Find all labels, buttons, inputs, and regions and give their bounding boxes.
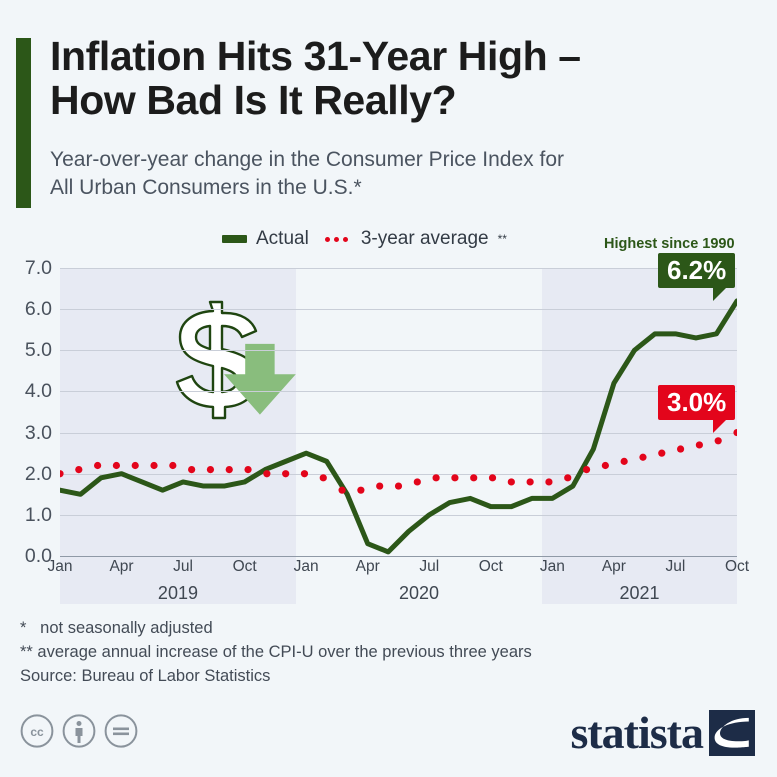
statista-logo-text: statista [570, 708, 703, 758]
y-tick-2.0: 2.0 [2, 463, 52, 486]
footnotes: * not seasonally adjusted ** average ann… [20, 616, 740, 688]
series-dot-average [244, 466, 251, 473]
footer: cc statista [0, 700, 777, 777]
series-dot-average [696, 441, 703, 448]
solid-line-swatch-icon [222, 235, 247, 243]
series-dot-average [433, 474, 440, 481]
x-tick-Oct-3: Oct [233, 558, 257, 576]
legend-label-average-suffix: ** [498, 232, 507, 246]
series-dot-average [527, 478, 534, 485]
x-tick-Jul-2: Jul [173, 558, 193, 576]
series-dot-average [545, 478, 552, 485]
title-line-1: Inflation Hits 31-Year High – [50, 34, 760, 78]
series-dot-average [677, 445, 684, 452]
series-dot-average [207, 466, 214, 473]
series-dot-average [658, 450, 665, 457]
legend-label-actual: Actual [256, 228, 309, 250]
x-tick-Apr-1: Apr [109, 558, 133, 576]
x-tick-Jan-4: Jan [294, 558, 319, 576]
series-dot-average [733, 429, 737, 436]
legend-item-actual: Actual [222, 228, 309, 250]
x-tick-Jan-0: Jan [48, 558, 73, 576]
year-label-2019: 2019 [158, 583, 198, 604]
cc-icon: cc [20, 714, 54, 748]
series-dot-average [357, 487, 364, 494]
page-title: Inflation Hits 31-Year High – How Bad Is… [50, 34, 760, 122]
infographic-canvas: Inflation Hits 31-Year High – How Bad Is… [0, 0, 777, 777]
chart-area: 0.01.02.03.04.05.06.07.0 JanAprJulOctJan… [0, 255, 777, 615]
actual-value-callout: 6.2% [658, 253, 735, 288]
series-dot-average [489, 474, 496, 481]
subtitle-line-1: Year-over-year change in the Consumer Pr… [50, 146, 750, 174]
x-tick-Oct-11: Oct [725, 558, 749, 576]
series-dot-average [414, 478, 421, 485]
series-line-actual [60, 301, 737, 552]
y-axis: 0.01.02.03.04.05.06.07.0 [0, 268, 52, 556]
y-tick-4.0: 4.0 [2, 380, 52, 403]
series-dot-average [132, 462, 139, 469]
series-dot-average [470, 474, 477, 481]
series-dot-average [602, 462, 609, 469]
y-tick-7.0: 7.0 [2, 257, 52, 280]
y-tick-0.0: 0.0 [2, 545, 52, 568]
average-value-callout-label: 3.0% [667, 387, 726, 417]
series-dot-average [301, 470, 308, 477]
year-label-2021: 2021 [620, 583, 660, 604]
x-tick-Jul-10: Jul [666, 558, 686, 576]
footnote-2: ** average annual increase of the CPI-U … [20, 640, 740, 664]
x-tick-Apr-5: Apr [356, 558, 380, 576]
source-note: Source: Bureau of Labor Statistics [20, 664, 740, 688]
series-dot-average [338, 487, 345, 494]
x-tick-Jul-6: Jul [419, 558, 439, 576]
series-dot-average [508, 478, 515, 485]
series-dot-average [60, 470, 64, 477]
series-dot-average [75, 466, 82, 473]
series-dot-average [150, 462, 157, 469]
series-dot-average [639, 454, 646, 461]
y-tick-1.0: 1.0 [2, 504, 52, 527]
year-label-2020: 2020 [399, 583, 439, 604]
creative-commons-icons: cc [20, 714, 138, 748]
series-dot-average [226, 466, 233, 473]
series-dot-average [263, 470, 270, 477]
average-value-callout: 3.0% [658, 385, 735, 420]
series-dot-average [320, 474, 327, 481]
svg-text:cc: cc [30, 725, 44, 739]
series-dot-average [395, 482, 402, 489]
series-dot-average [715, 437, 722, 444]
series-dot-average [583, 466, 590, 473]
series-dot-average [282, 470, 289, 477]
highest-since-annotation: Highest since 1990 [604, 236, 735, 252]
series-dot-average [113, 462, 120, 469]
x-tick-Oct-7: Oct [479, 558, 503, 576]
no-derivatives-icon [104, 714, 138, 748]
x-tick-Jan-8: Jan [540, 558, 565, 576]
gridline-0.0 [60, 556, 737, 557]
x-tick-Apr-9: Apr [602, 558, 626, 576]
statista-logo: statista [570, 708, 755, 758]
y-tick-5.0: 5.0 [2, 339, 52, 362]
series-layer [60, 268, 737, 556]
statista-mark-icon [709, 710, 755, 756]
legend-item-average: 3-year average** [325, 228, 507, 250]
actual-value-callout-label: 6.2% [667, 255, 726, 285]
series-dot-average [94, 462, 101, 469]
title-line-2: How Bad Is It Really? [50, 78, 760, 122]
accent-bar [16, 38, 31, 208]
attribution-icon [62, 714, 96, 748]
series-dot-average [169, 462, 176, 469]
series-dot-average [621, 458, 628, 465]
dotted-line-swatch-icon [325, 235, 352, 243]
page-subtitle: Year-over-year change in the Consumer Pr… [50, 146, 750, 202]
series-dot-average [451, 474, 458, 481]
footnote-1: * not seasonally adjusted [20, 616, 740, 640]
y-tick-3.0: 3.0 [2, 422, 52, 445]
plot-area [60, 268, 737, 556]
chart-legend: Actual 3-year average** [222, 228, 507, 250]
series-dot-average [564, 474, 571, 481]
series-dot-average [188, 466, 195, 473]
series-dot-average [376, 482, 383, 489]
legend-label-average: 3-year average [361, 228, 489, 250]
y-tick-6.0: 6.0 [2, 298, 52, 321]
subtitle-line-2: All Urban Consumers in the U.S.* [50, 174, 750, 202]
